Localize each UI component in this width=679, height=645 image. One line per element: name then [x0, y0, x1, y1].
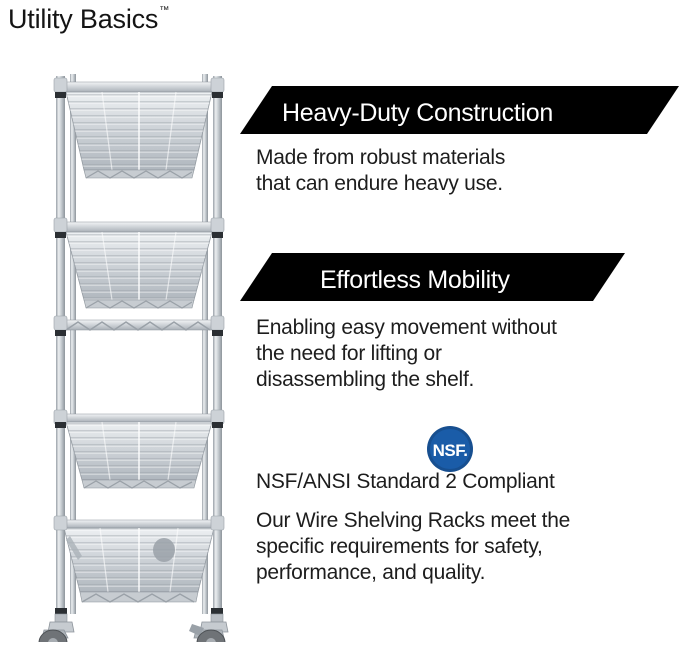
rack-shelf-3: [62, 320, 216, 330]
rack-shelf-4: [62, 414, 216, 488]
nsf-compliance-caption: NSF/ANSI Standard 2 Compliant: [256, 470, 555, 494]
infographic-page: Utility Basics ™: [0, 0, 679, 645]
feature-body-mobility: Enabling easy movement without the need …: [256, 315, 676, 393]
product-image-wire-shelving-rack: [34, 52, 244, 642]
feature-banner-label: Effortless Mobility: [320, 266, 510, 295]
trademark-symbol: ™: [159, 5, 169, 17]
rack-caster-left: [39, 614, 74, 642]
feature-banner-mobility: Effortless Mobility: [240, 253, 679, 301]
rack-shelf-2: [62, 222, 216, 308]
brand-name: Utility Basics: [8, 2, 158, 36]
svg-text:NSF.: NSF.: [433, 441, 468, 460]
nsf-certification-icon: NSF.: [426, 425, 474, 473]
feature-content-column: Heavy-Duty Construction Made from robust…: [240, 0, 679, 645]
rack-caster-right: [189, 614, 228, 642]
nsf-compliance-body: Our Wire Shelving Racks meet the specifi…: [256, 508, 666, 586]
brand-wordmark: Utility Basics ™: [8, 2, 169, 36]
rack-shelf-1: [62, 82, 216, 178]
feature-banner-label: Heavy-Duty Construction: [282, 99, 553, 128]
feature-banner-heavy-duty: Heavy-Duty Construction: [240, 86, 679, 134]
feature-body-heavy-duty: Made from robust materials that can endu…: [256, 145, 666, 197]
rack-shelf-5: [60, 520, 218, 602]
